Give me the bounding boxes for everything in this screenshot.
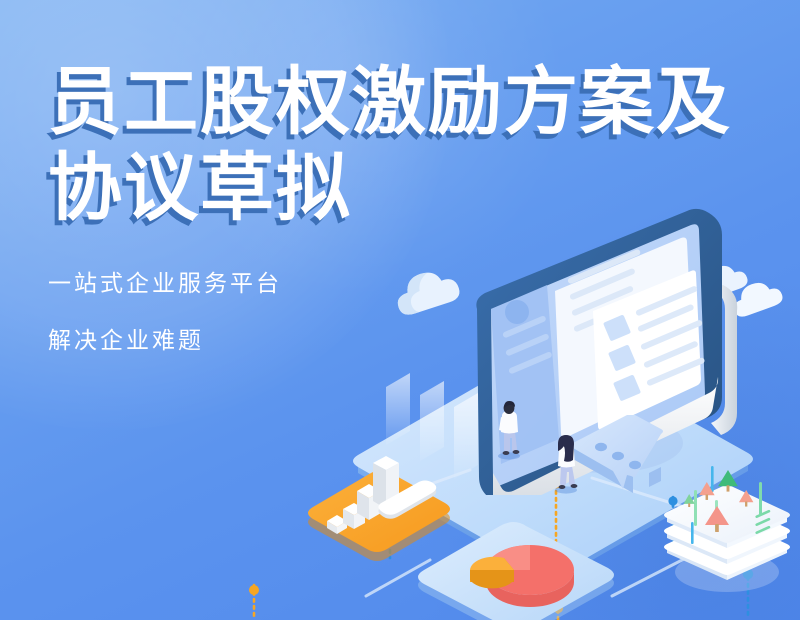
hero-text-block: 员工股权激励方案及 协议草拟 一站式企业服务平台 解决企业难题 — [48, 60, 778, 353]
pie-exploded-slice — [470, 557, 514, 589]
server-stack — [655, 460, 800, 595]
hero-subtitle-line-1: 一站式企业服务平台 — [48, 270, 778, 296]
hero-subtitle-line-2: 解决企业难题 — [48, 327, 778, 353]
person-male — [492, 398, 526, 460]
person-female — [549, 430, 583, 494]
hero-title-line-2: 协议草拟 — [48, 146, 778, 230]
hero-title-line-1: 员工股权激励方案及 — [48, 60, 778, 144]
pie-chart-card — [418, 508, 618, 620]
hero-banner: 员工股权激励方案及 协议草拟 一站式企业服务平台 解决企业难题 — [0, 0, 800, 620]
